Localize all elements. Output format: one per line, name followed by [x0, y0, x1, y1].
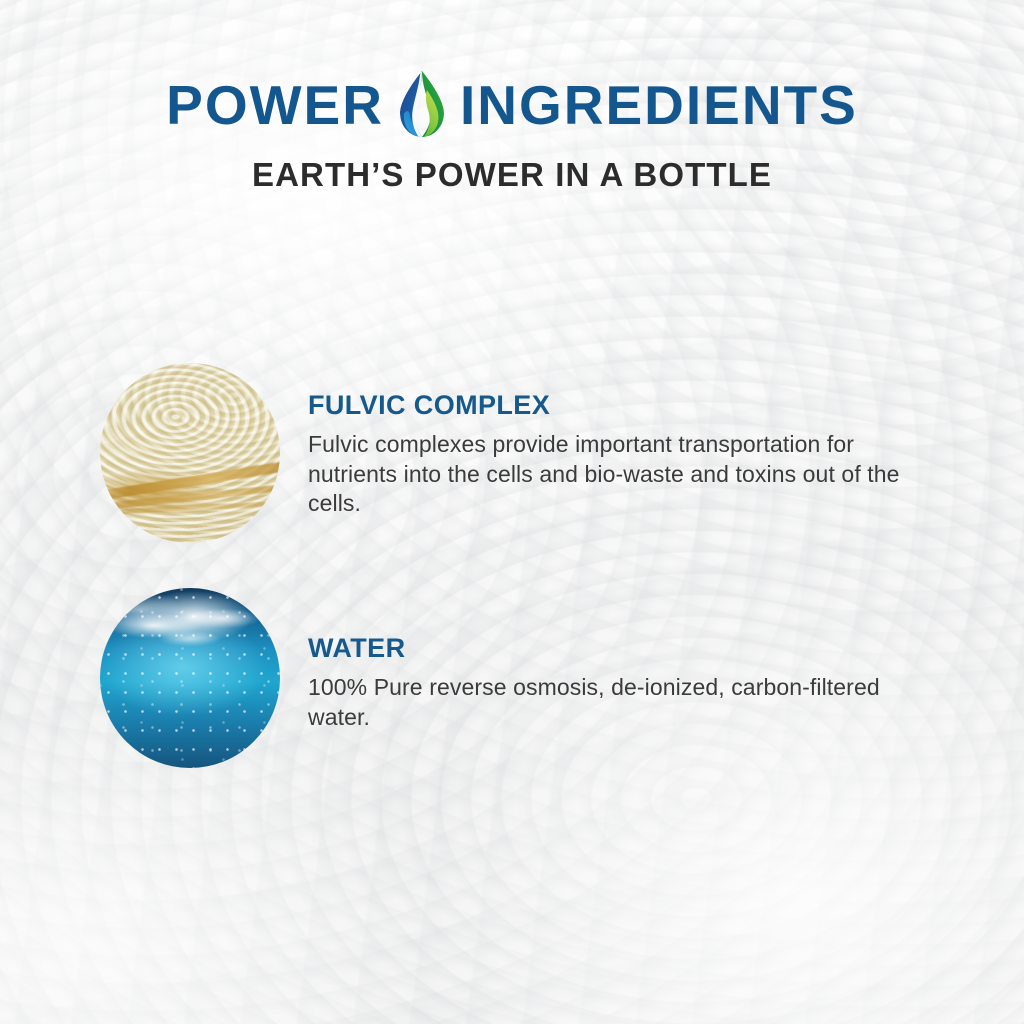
- page-subtitle: EARTH’S POWER IN A BOTTLE: [0, 158, 1024, 191]
- title-word-ingredients: INGREDIENTS: [460, 78, 858, 133]
- water-droplet-icon: [394, 70, 450, 140]
- ingredient-description: Fulvic complexes provide important trans…: [308, 430, 938, 520]
- title-word-power: POWER: [166, 78, 384, 133]
- header: POWER: [0, 0, 1024, 191]
- ingredient-text-block: FULVIC COMPLEX Fulvic complexes provide …: [308, 363, 938, 519]
- golden-fulvic-water-thumbnail: [100, 363, 280, 543]
- blue-underwater-thumbnail: [100, 588, 280, 768]
- water-bubble-overlay: [100, 588, 280, 768]
- ingredient-row-water: WATER 100% Pure reverse osmosis, de-ioni…: [100, 588, 938, 768]
- ingredient-row-fulvic-complex: FULVIC COMPLEX Fulvic complexes provide …: [100, 363, 938, 543]
- ingredient-text-block: WATER 100% Pure reverse osmosis, de-ioni…: [308, 588, 938, 732]
- ingredient-title: FULVIC COMPLEX: [308, 391, 938, 421]
- power-ingredients-page: POWER: [0, 0, 1024, 1024]
- ingredient-title: WATER: [308, 634, 938, 664]
- ingredient-description: 100% Pure reverse osmosis, de-ionized, c…: [308, 673, 938, 733]
- page-title: POWER: [0, 70, 1024, 140]
